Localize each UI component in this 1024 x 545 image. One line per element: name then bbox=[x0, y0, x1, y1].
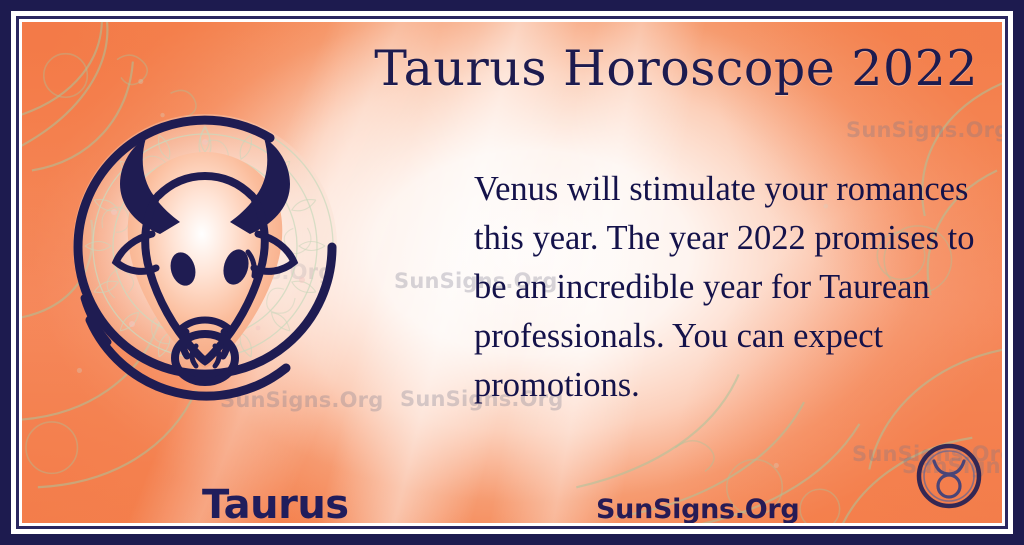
frame-white-inner: SunSigns.OrgSunSigns.OrgSunSigns.OrgSunS… bbox=[19, 19, 1005, 526]
poster-card: SunSigns.OrgSunSigns.OrgSunSigns.OrgSunS… bbox=[0, 0, 1024, 545]
zodiac-sign-name: Taurus bbox=[202, 482, 349, 523]
page-title: Taurus Horoscope 2022 bbox=[374, 40, 978, 97]
horoscope-body-text: Venus will stimulate your romances this … bbox=[474, 165, 994, 410]
poster-artwork-stage: SunSigns.OrgSunSigns.OrgSunSigns.OrgSunS… bbox=[22, 22, 1002, 523]
brand-watermark: SunSigns.Org bbox=[846, 118, 1002, 142]
taurus-glyph-icon bbox=[912, 439, 986, 513]
brand-label: SunSigns.Org bbox=[596, 494, 799, 523]
frame-white-outer: SunSigns.OrgSunSigns.OrgSunSigns.OrgSunS… bbox=[11, 11, 1013, 534]
frame-navy-inner-line: SunSigns.OrgSunSigns.OrgSunSigns.OrgSunS… bbox=[16, 16, 1008, 529]
taurus-bull-emblem bbox=[40, 84, 370, 414]
